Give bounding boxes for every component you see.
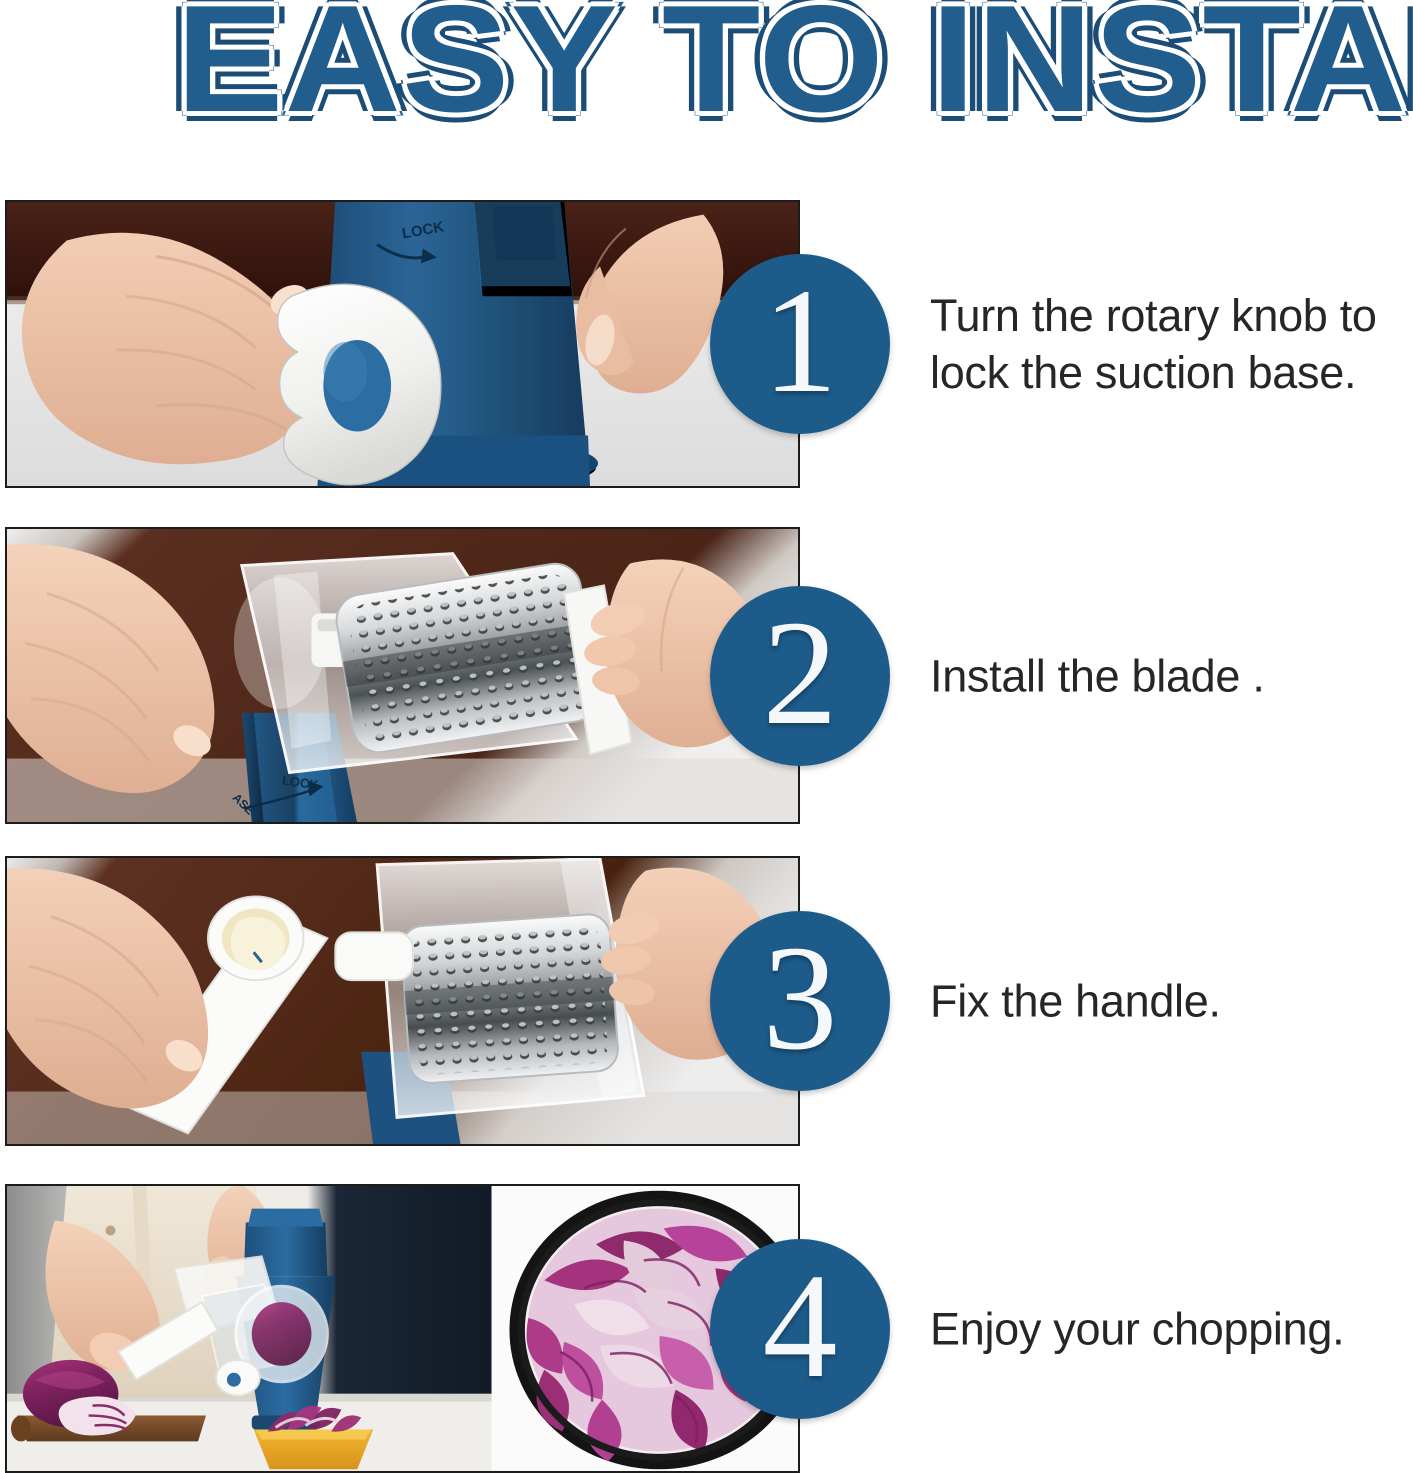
step-3-photo [5, 856, 800, 1146]
step-3-number: 3 [763, 923, 838, 1073]
title-banner: EASY TO INSTALL [0, 0, 1413, 160]
step-2-caption: Install the blade . [930, 647, 1410, 704]
step-3-caption: Fix the handle. [930, 973, 1410, 1030]
step-1-photo: LOCK [5, 200, 800, 488]
step-1-illustration: LOCK [7, 202, 798, 486]
step-2-photo-scene: LOCK ASE [7, 529, 798, 822]
step-4-number-badge: 4 [710, 1239, 890, 1419]
step-4-illustration [7, 1186, 798, 1471]
step-4-number: 4 [763, 1251, 838, 1401]
step-1-number-badge: 1 [710, 254, 890, 434]
step-2-number: 2 [763, 598, 838, 748]
step-2-illustration: LOCK ASE [7, 529, 798, 822]
step-3-number-badge: 3 [710, 911, 890, 1091]
step-row-1: LOCK 1 [0, 200, 1413, 488]
step-4-photo [5, 1184, 800, 1473]
step-1-number: 1 [763, 266, 838, 416]
step-row-2: LOCK ASE [0, 527, 1413, 824]
step-3-illustration [7, 858, 798, 1144]
step-4-caption: Enjoy your chopping. [930, 1300, 1410, 1357]
step-row-4: 4 Enjoy your chopping. [0, 1184, 1413, 1473]
step-2-number-badge: 2 [710, 586, 890, 766]
page-title: EASY TO INSTALL [176, 0, 1413, 134]
step-row-3: 3 Fix the handle. [0, 856, 1413, 1146]
step-3-photo-scene [7, 858, 798, 1144]
step-1-caption: Turn the rotary knob to lock the suction… [930, 287, 1410, 401]
step-1-photo-scene: LOCK [7, 202, 798, 486]
step-4-photo-scene [7, 1186, 798, 1471]
step-2-photo: LOCK ASE [5, 527, 800, 824]
step-4-left-subimage [7, 1186, 492, 1471]
